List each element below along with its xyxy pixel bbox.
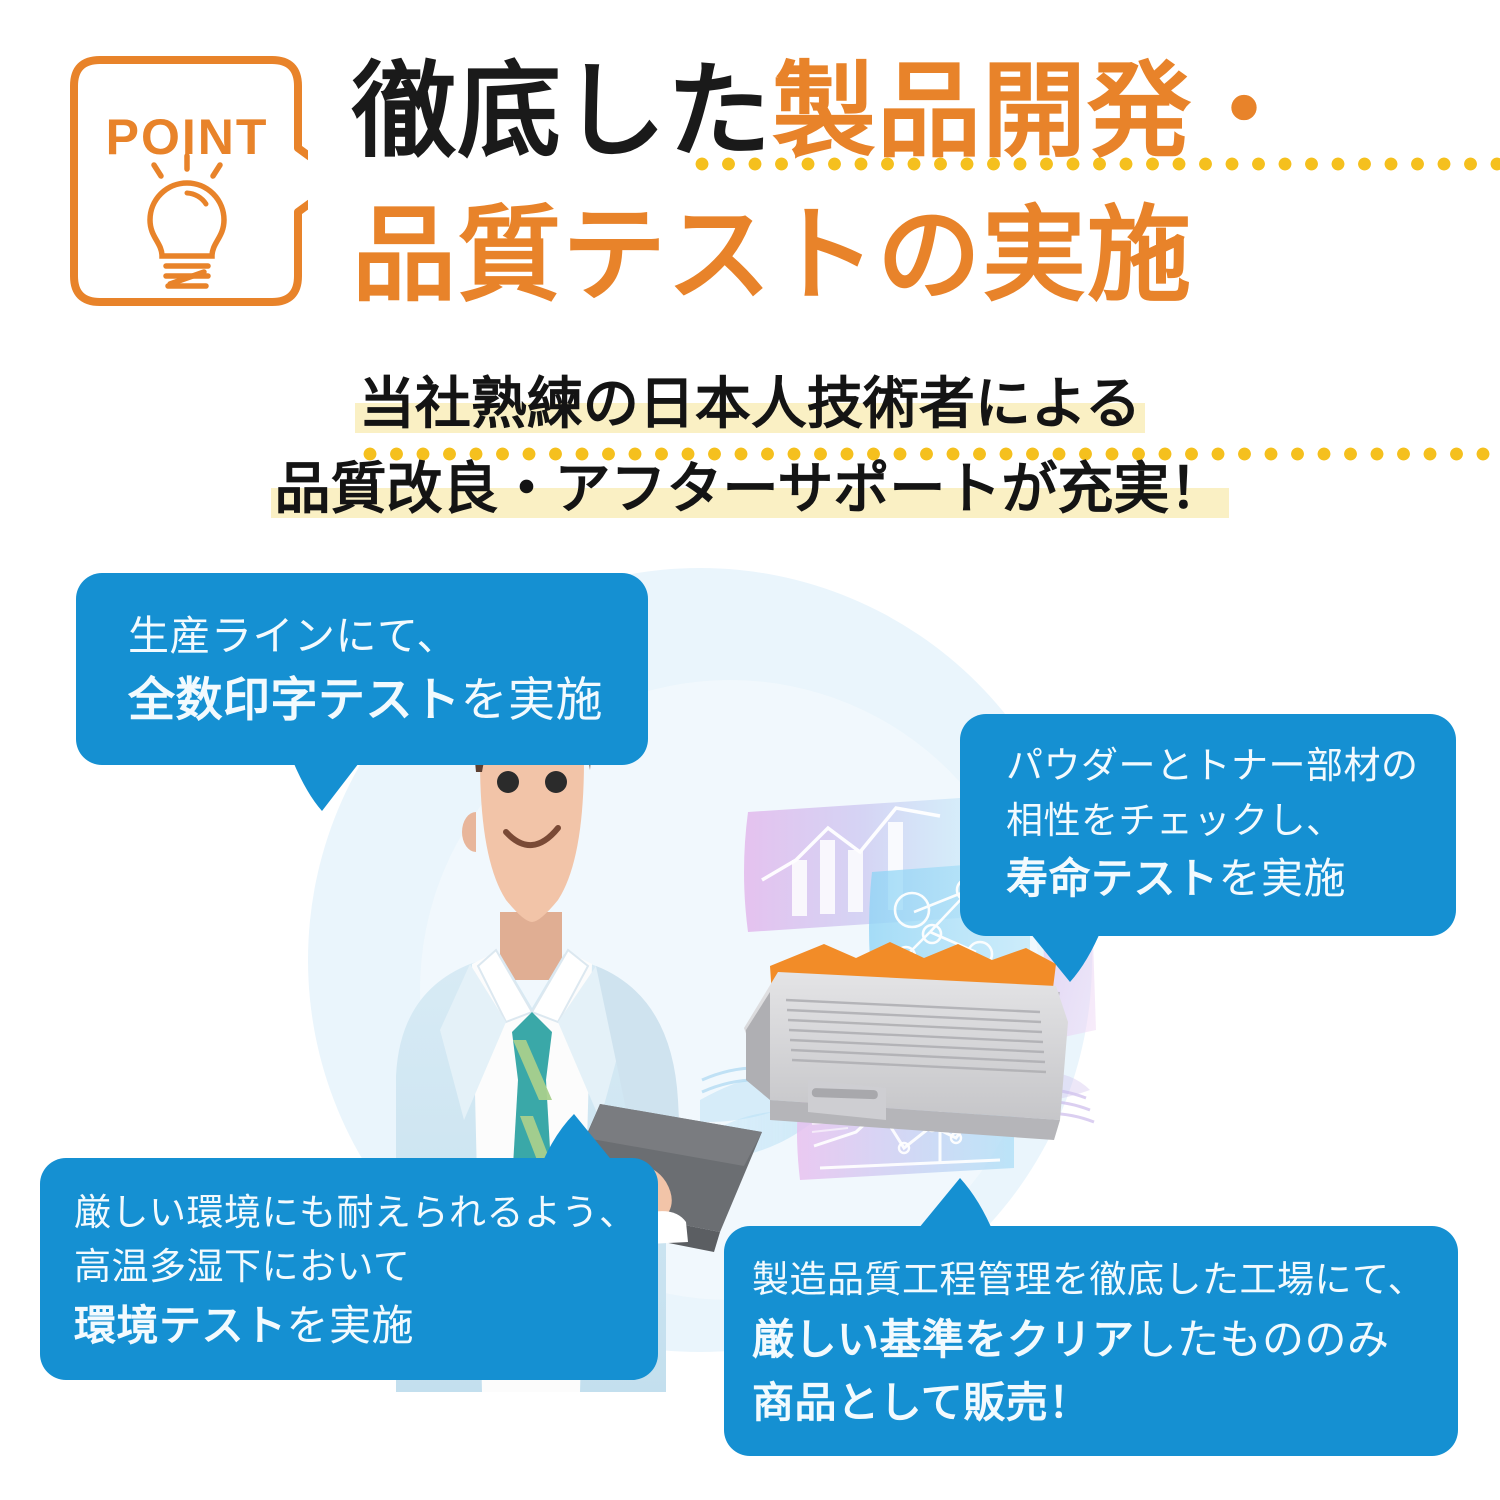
subtitle-line-2: 品質改良・アフターサポートが充実！ [275,447,1226,532]
bubble-print-line2-bold: 全数印字テスト [128,673,461,728]
bubble-env-line1: 厳しい環境にも耐えられるよう、 [74,1191,637,1234]
subtitle-line1-text: 当社熟練の日本人技術者による [359,372,1141,437]
headline-dotted-underline-1 [694,156,1500,172]
bubble-factory-line3-bold: 商品として販売！ [752,1378,1091,1427]
bubble-life-test: パウダーとトナー部材の 相性をチェックし、 寿命テストを実施 [960,714,1456,936]
bubble-factory-quality-tail [914,1178,994,1234]
headline-line2-orange: 品質テストの実施 [352,194,1192,316]
toner-cartridge [744,942,1068,1140]
bubble-life-test-text: パウダーとトナー部材の 相性をチェックし、 寿命テストを実施 [1006,738,1456,911]
bubble-environment-test-tail [540,1114,618,1168]
headline-line-2: 品質テストの実施 [352,184,1452,328]
headline: 徹底した製品開発・ 品質テストの実施 [352,40,1452,327]
bubble-life-line3-normal: を実施 [1219,854,1347,903]
point-badge: POINT [66,52,308,310]
headline-line1-orange: 製品開発・ [772,50,1297,172]
bubble-factory-quality: 製造品質工程管理を徹底した工場にて、 厳しい基準をクリアしたもののみ 商品として… [724,1226,1458,1456]
eye-right [545,771,567,793]
lightbulb-icon [150,156,224,286]
subtitle: 当社熟練の日本人技術者による 品質改良・アフターサポートが充実！ [0,362,1500,532]
bubble-life-line1: パウダーとトナー部材の [1006,744,1419,787]
point-badge-label: POINT [66,108,308,166]
subtitle-line2-text: 品質改良・アフターサポートが充実！ [275,457,1226,522]
bubble-life-test-tail [1026,928,1102,982]
bubble-print-line2-normal: を実施 [461,673,604,728]
bubble-environment-test-text: 厳しい環境にも耐えられるよう、 高温多湿下において 環境テストを実施 [74,1186,658,1356]
bubble-env-line2: 高温多湿下において [74,1245,410,1288]
subtitle-line-1: 当社熟練の日本人技術者による [359,362,1141,447]
bubble-print-test-tail [292,759,362,811]
bubble-env-line3-normal: を実施 [287,1301,415,1350]
eye-left [497,771,519,793]
infographic-canvas: POINT 徹底した製品開発・ 品質テストの実施 当社熟練の日本人技術者による … [0,0,1500,1500]
bubble-print-line1: 生産ラインにて、 [128,612,458,660]
bubble-life-line3-bold: 寿命テスト [1006,854,1219,903]
bubble-life-line2: 相性をチェックし、 [1006,799,1344,842]
bubble-env-line3-bold: 環境テスト [74,1301,287,1350]
point-badge-bubble-shape [66,52,308,310]
bubble-print-test: 生産ラインにて、 全数印字テストを実施 [76,573,648,765]
headline-line1-black: 徹底した [352,50,772,172]
bubble-factory-quality-text: 製造品質工程管理を徹底した工場にて、 厳しい基準をクリアしたもののみ 商品として… [752,1252,1458,1434]
bubble-environment-test: 厳しい環境にも耐えられるよう、 高温多湿下において 環境テストを実施 [40,1158,658,1380]
bubble-factory-line1: 製造品質工程管理を徹底した工場にて、 [752,1258,1425,1301]
bubble-factory-line2-normal: したもののみ [1135,1315,1390,1364]
bubble-print-test-text: 生産ラインにて、 全数印字テストを実施 [128,607,648,735]
headline-line-1: 徹底した製品開発・ [352,40,1452,184]
bubble-factory-line2-bold: 厳しい基準をクリア [752,1315,1135,1364]
